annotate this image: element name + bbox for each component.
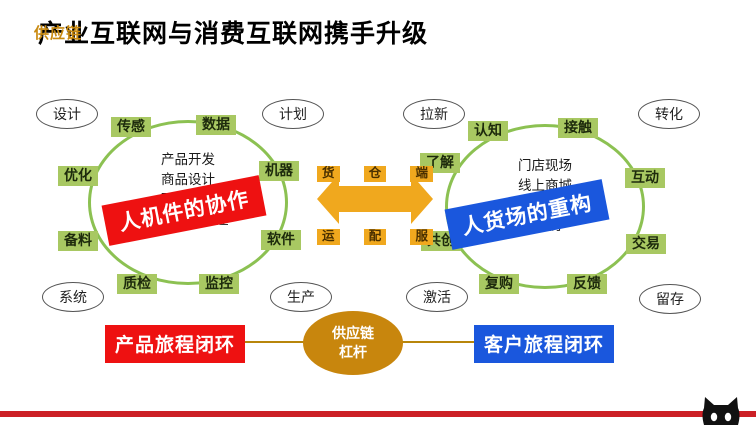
mini-fu[interactable]: 服 bbox=[410, 229, 433, 245]
supply-chain-lever[interactable]: 供应链 杠杆 bbox=[303, 311, 403, 375]
oval-laxin[interactable]: 拉新 bbox=[403, 99, 465, 129]
left-chip-chuangan[interactable]: 传感 bbox=[111, 117, 151, 137]
supply-chain-label: 供应链 bbox=[0, 22, 116, 43]
bottom-tag-customer-journey[interactable]: 客户旅程闭环 bbox=[474, 325, 614, 363]
oval-zhuanhua[interactable]: 转化 bbox=[638, 99, 700, 129]
left-chip-zhijian[interactable]: 质检 bbox=[117, 274, 157, 294]
left-chip-jiqi[interactable]: 机器 bbox=[259, 161, 299, 181]
mini-cang[interactable]: 仓 bbox=[364, 166, 387, 182]
right-chip-jiaoyi[interactable]: 交易 bbox=[626, 234, 666, 254]
left-chip-ruanjian[interactable]: 软件 bbox=[261, 230, 301, 250]
supply-chain-bottom-items: 运 配 服 bbox=[317, 229, 433, 245]
oval-xitong[interactable]: 系统 bbox=[42, 282, 104, 312]
oval-jihuo[interactable]: 激活 bbox=[406, 282, 468, 312]
left-inner-line-1: 产品开发 bbox=[118, 150, 258, 170]
lever-line-1: 供应链 bbox=[332, 324, 374, 343]
footer-bar bbox=[0, 411, 756, 417]
right-chip-renzhi[interactable]: 认知 bbox=[468, 121, 508, 141]
right-chip-fugou[interactable]: 复购 bbox=[479, 274, 519, 294]
tmall-cat-logo bbox=[698, 396, 744, 425]
right-chip-fankui[interactable]: 反馈 bbox=[567, 274, 607, 294]
right-chip-hudong[interactable]: 互动 bbox=[625, 168, 665, 188]
oval-liucun[interactable]: 留存 bbox=[639, 284, 701, 314]
slide-canvas: 产业互联网与消费互联网携手升级 产品开发 商品设计 研发制造 全程质量管控 传感… bbox=[0, 0, 756, 425]
mini-yun[interactable]: 运 bbox=[317, 229, 340, 245]
lever-line-2: 杠杆 bbox=[339, 343, 367, 362]
oval-sheji[interactable]: 设计 bbox=[36, 99, 98, 129]
bottom-tag-product-journey[interactable]: 产品旅程闭环 bbox=[105, 325, 245, 363]
right-chip-jiechu[interactable]: 接触 bbox=[558, 118, 598, 138]
supply-chain-top-items: 货 仓 端 bbox=[317, 166, 433, 182]
left-chip-youhua[interactable]: 优化 bbox=[58, 166, 98, 186]
mini-huo[interactable]: 货 bbox=[317, 166, 340, 182]
oval-jihua[interactable]: 计划 bbox=[262, 99, 324, 129]
left-chip-shuju[interactable]: 数据 bbox=[196, 115, 236, 135]
mini-duan[interactable]: 端 bbox=[410, 166, 433, 182]
mini-pei[interactable]: 配 bbox=[364, 229, 387, 245]
right-inner-line-1: 门店现场 bbox=[475, 156, 615, 176]
left-chip-beiliao[interactable]: 备料 bbox=[58, 231, 98, 251]
left-chip-jiankong[interactable]: 监控 bbox=[199, 274, 239, 294]
oval-shengchan[interactable]: 生产 bbox=[270, 282, 332, 312]
